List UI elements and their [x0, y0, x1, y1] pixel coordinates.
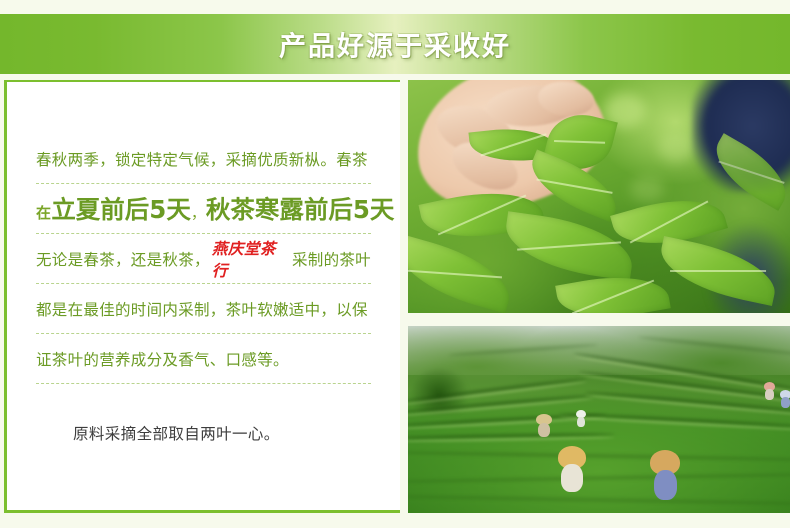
description-line-5-text: 证茶叶的营养成分及香气、口感等。: [36, 348, 289, 370]
product-harvest-banner-page: 产品好源于采收好 春秋两季，锁定特定气候，采摘优质新枞。春茶 在 立夏前后5天 …: [0, 0, 790, 528]
description-line-2: 在 立夏前后5天 ， 秋茶寒露前后5天: [36, 184, 371, 234]
description-line-5: 证茶叶的营养成分及香气、口感等。: [36, 334, 371, 384]
description-line-2-text: 在 立夏前后5天 ， 秋茶寒露前后5天: [36, 191, 394, 226]
page-top-margin: [0, 0, 790, 14]
photo-bottom-worker-4: [650, 450, 680, 498]
brand-name-label: 燕庆堂茶行: [210, 237, 292, 281]
description-line-3: 无论是春茶，还是秋茶， 燕庆堂茶行 采制的茶叶: [36, 234, 371, 284]
description-line-1-text: 春秋两季，锁定特定气候，采摘优质新枞。春茶: [36, 148, 368, 170]
photo-bottom-worker-6: [780, 390, 790, 407]
line-2-emphasis-autumn: 秋茶寒露前后5天: [206, 191, 395, 226]
line-2-prefix: 在: [36, 202, 51, 223]
photo-tea-plantation: [408, 326, 790, 513]
page-title: 产品好源于采收好: [0, 25, 790, 64]
line-3-before-text: 无论是春茶，还是秋茶，: [36, 248, 210, 270]
description-line-4: 都是在最佳的时间内采制，茶叶软嫩适中，以保: [36, 284, 371, 334]
description-line-list: 春秋两季，锁定特定气候，采摘优质新枞。春茶 在 立夏前后5天 ， 秋茶寒露前后5…: [7, 134, 400, 384]
line-2-separator: ，: [191, 202, 206, 223]
photo-hand-picking-tea: [408, 80, 790, 313]
description-line-4-text: 都是在最佳的时间内采制，茶叶软嫩适中，以保: [36, 298, 368, 320]
raw-material-footnote: 原料采摘全部取自两叶一心。: [7, 422, 400, 444]
photo-bottom-worker-3: [558, 446, 586, 490]
photo-bottom-worker-5: [764, 382, 775, 399]
photo-bottom-worker-2: [576, 410, 586, 426]
description-line-1: 春秋两季，锁定特定气候，采摘优质新枞。春茶: [36, 134, 371, 184]
line-2-emphasis-spring: 立夏前后5天: [51, 191, 191, 226]
page-bottom-margin: [0, 513, 790, 528]
description-panel: 春秋两季，锁定特定气候，采摘优质新枞。春茶 在 立夏前后5天 ， 秋茶寒露前后5…: [4, 80, 400, 513]
line-3-after-text: 采制的茶叶: [292, 248, 371, 270]
section-header-banner: 产品好源于采收好: [0, 14, 790, 74]
photo-bottom-worker-1: [536, 414, 552, 436]
